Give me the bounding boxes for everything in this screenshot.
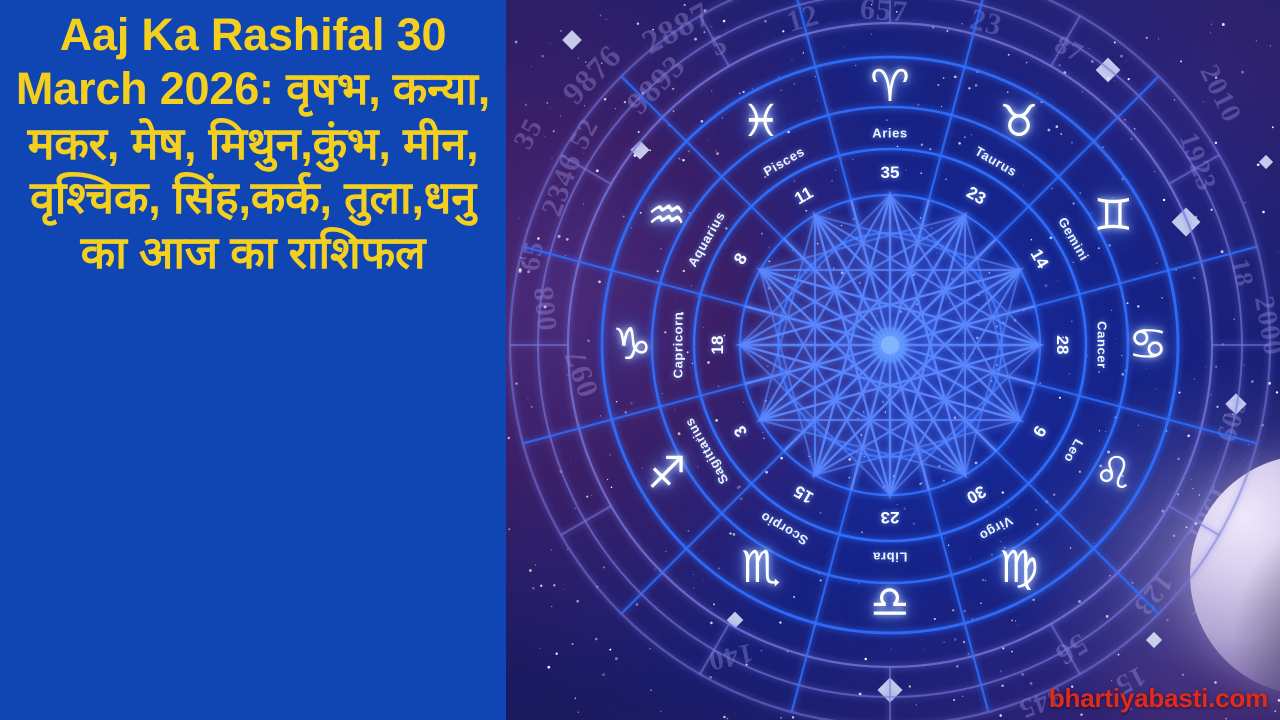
page-title: Aaj Ka Rashifal 30 March 2026: वृषभ, कन्… [6,8,500,280]
zodiac-label-aries: Aries [872,126,908,141]
zodiac-number-aries: 35 [881,163,900,183]
zodiac-number-cancer: 28 [1052,336,1072,355]
horoscope-banner: 2887125657238720101923182000609198112311… [0,0,1280,720]
zodiac-label-libra: Libra [873,550,908,565]
zodiac-number-libra: 23 [881,507,900,527]
zodiac-number-capricorn: 18 [708,336,728,355]
zodiac-wheel-rings [470,0,1280,720]
zodiac-label-capricorn: Capricorn [671,312,686,379]
zodiac-label-cancer: Cancer [1095,321,1110,369]
site-watermark: bhartiyabasti.com [1049,683,1268,714]
headline-panel: Aaj Ka Rashifal 30 March 2026: वृषभ, कन्… [0,0,506,720]
